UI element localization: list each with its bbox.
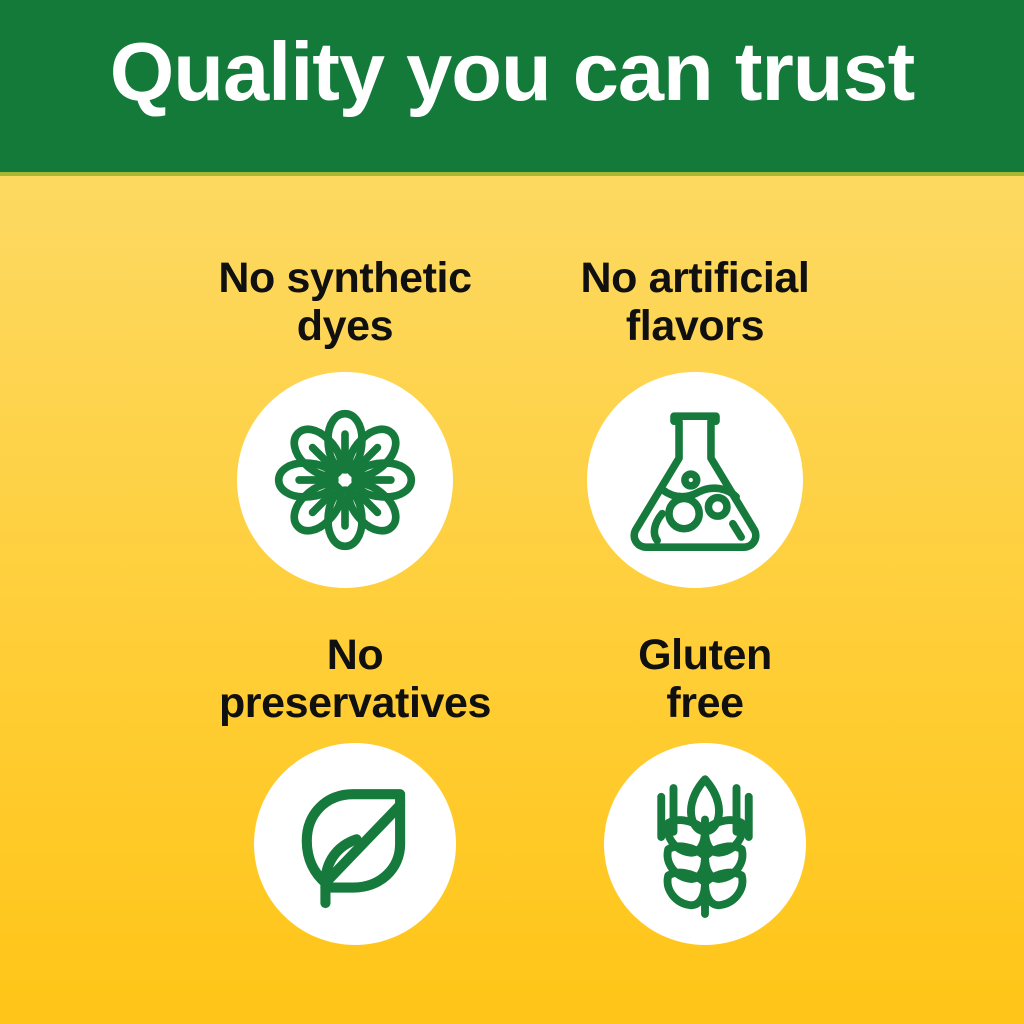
header-banner: Quality you can trust (0, 0, 1024, 176)
page-title: Quality you can trust (0, 30, 1024, 115)
feature-label-line-2: dyes (297, 302, 393, 350)
feature-label-line-1: Gluten (638, 631, 772, 679)
feature-label-line-2: free (666, 679, 743, 727)
icon-disc (604, 743, 806, 945)
feature-label: No synthetic dyes (218, 254, 471, 350)
flask-icon (615, 396, 775, 564)
wheat-icon (635, 765, 775, 923)
quality-badges-poster: Quality you can trust No synthetic dyes (0, 0, 1024, 1024)
dye-splash-icon (260, 395, 430, 565)
feature-label-line-1: No artificial (581, 254, 810, 302)
feature-label: No artificial flavors (581, 254, 810, 350)
feature-label: No preservatives (219, 631, 491, 727)
feature-no-synthetic-dyes: No synthetic dyes (165, 254, 525, 588)
feature-no-preservatives: No preservatives (175, 631, 535, 945)
feature-grid: No synthetic dyes (0, 176, 1024, 1024)
feature-gluten-free: Gluten free (525, 631, 885, 945)
leaf-icon (285, 774, 425, 914)
feature-label: Gluten free (638, 631, 772, 727)
icon-disc (237, 372, 453, 588)
feature-label-line-1: No synthetic (218, 254, 471, 302)
feature-label-line-2: preservatives (219, 679, 491, 727)
icon-disc (254, 743, 456, 945)
feature-label-line-1: No (327, 631, 384, 679)
feature-label-line-2: flavors (626, 302, 764, 350)
feature-no-artificial-flavors: No artificial flavors (515, 254, 875, 588)
icon-disc (587, 372, 803, 588)
